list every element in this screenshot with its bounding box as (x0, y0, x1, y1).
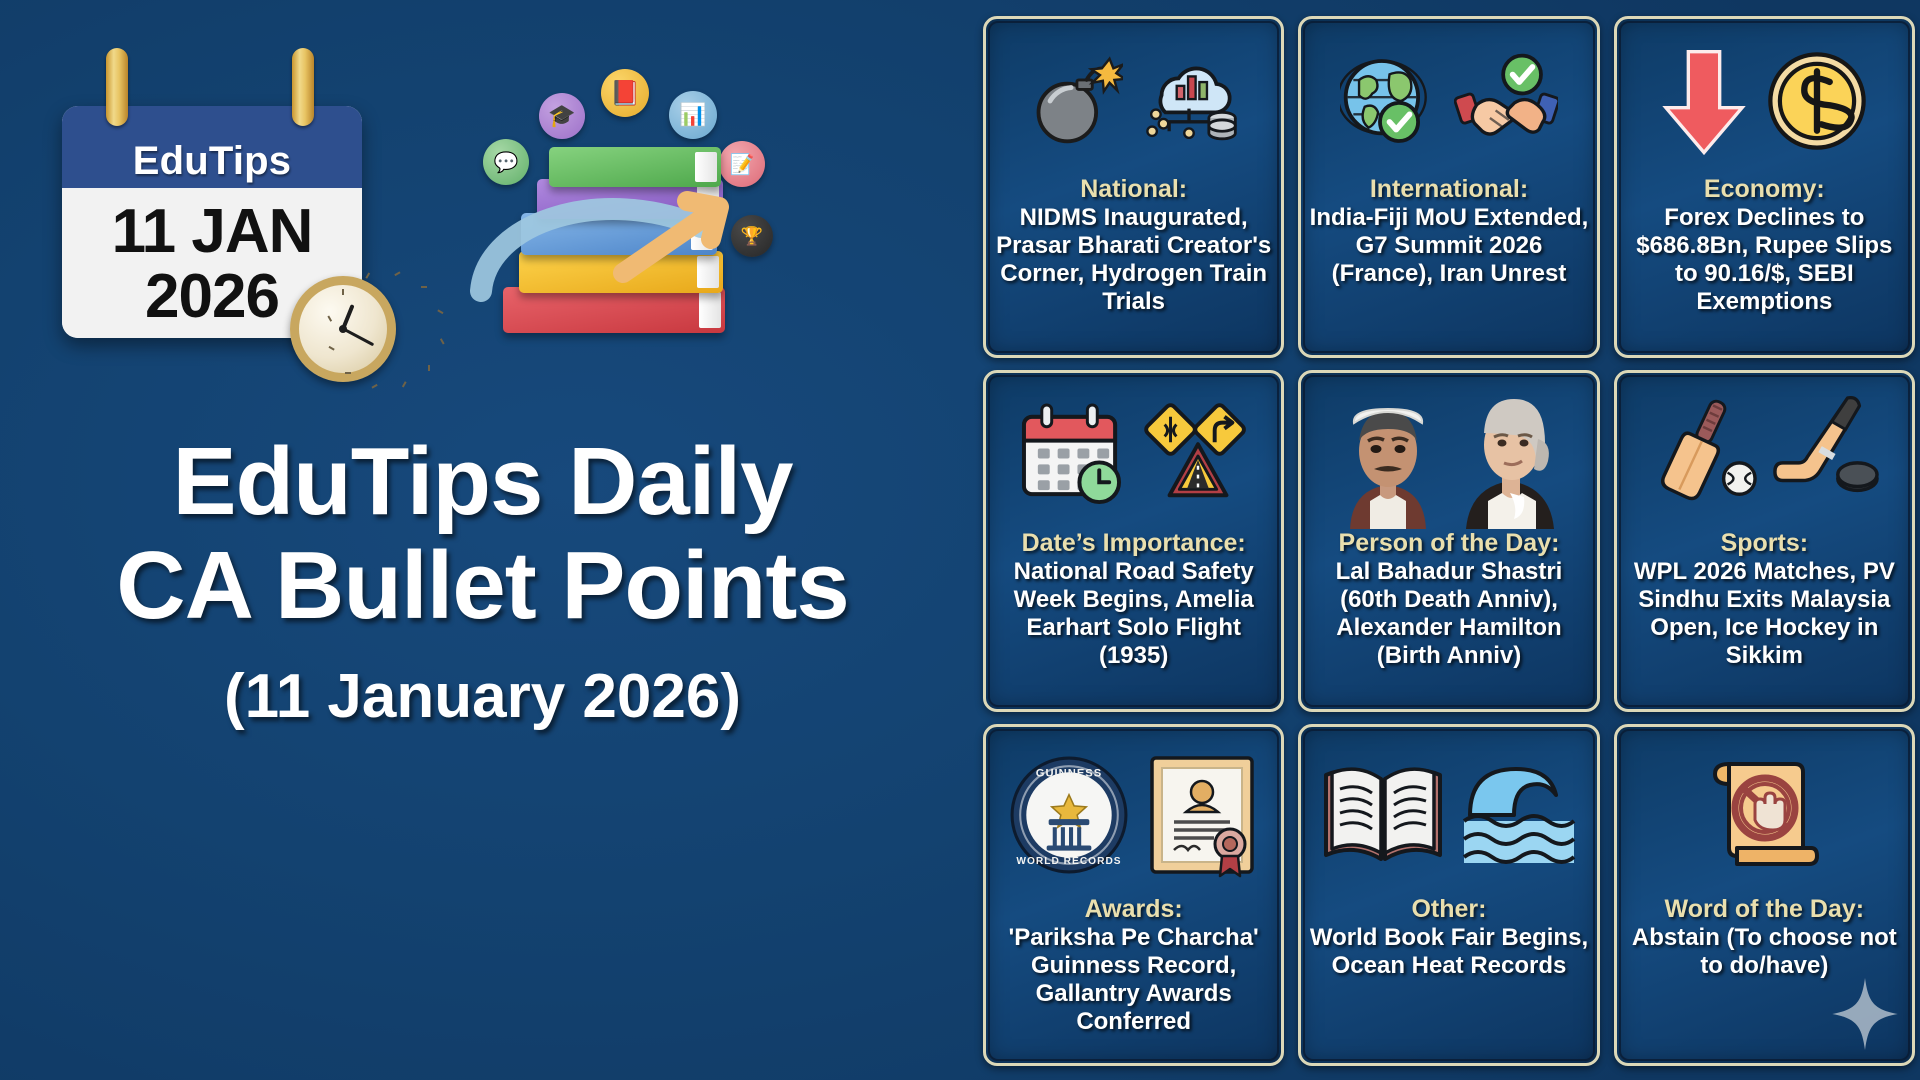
card-national-icons (992, 27, 1275, 175)
card-international[interactable]: International: India-Fiji MoU Extended, … (1298, 16, 1599, 358)
card-awards-description: 'Pariksha Pe Charcha' Guinness Record, G… (992, 924, 1275, 1036)
card-economy-icons (1623, 27, 1906, 175)
ocean-wave-icon (1460, 759, 1578, 871)
open-book-icon (1320, 759, 1446, 871)
calendar-ring-right (292, 48, 314, 126)
card-other[interactable]: Other: World Book Fair Begins, Ocean Hea… (1298, 724, 1599, 1066)
cloud-data-analytics-icon (1137, 53, 1241, 149)
title-line-2: CA Bullet Points (0, 534, 965, 638)
bomb-icon (1027, 53, 1123, 149)
svg-text:WORLD RECORDS: WORLD RECORDS (1016, 856, 1121, 867)
portrait-lal-bahadur-shastri (1327, 381, 1449, 529)
page-title: EduTips Daily CA Bullet Points (11 Janua… (0, 430, 965, 732)
stacked-books-icon: 🎓 📕 📊 💬 📝 🏆 (455, 55, 785, 385)
svg-text:GUINNESS: GUINNESS (1035, 767, 1102, 779)
calendar-brand-label: EduTips (133, 139, 291, 184)
calendar-ring-left (106, 48, 128, 126)
calendar-clock-icon (1016, 403, 1130, 507)
card-other-text: Other: World Book Fair Begins, Ocean Hea… (1307, 895, 1590, 1057)
card-international-text: International: India-Fiji MoU Extended, … (1307, 175, 1590, 349)
cricket-bat-ball-icon (1649, 394, 1757, 516)
card-national-description: NIDMS Inaugurated, Prasar Bharati Creato… (992, 204, 1275, 316)
card-economy-text: Economy: Forex Declines to $686.8Bn, Rup… (1623, 175, 1906, 349)
ice-hockey-stick-puck-icon (1771, 394, 1879, 516)
clock-icon (290, 276, 396, 382)
growth-arrow-icon (473, 173, 763, 313)
card-sports-icons (1623, 381, 1906, 529)
poster-canvas: EduTips 11 JAN 2026 (0, 0, 1920, 1080)
calendar-badge: EduTips 11 JAN 2026 (62, 48, 367, 348)
certificate-icon (1144, 752, 1260, 878)
card-person-of-the-day-text: Person of the Day: Lal Bahadur Shastri (… (1307, 529, 1590, 703)
red-down-arrow-icon (1658, 45, 1750, 157)
road-sign-icon (1144, 403, 1252, 507)
news-cards-grid: National: NIDMS Inaugurated, Prasar Bhar… (983, 16, 1915, 1066)
card-awards-text: Awards: 'Pariksha Pe Charcha' Guinness R… (992, 895, 1275, 1057)
calendar-year: 2026 (145, 267, 279, 328)
card-word-of-the-day-category: Word of the Day: (1665, 895, 1865, 923)
card-dates-importance-category: Date’s Importance: (1022, 529, 1246, 557)
card-economy[interactable]: Economy: Forex Declines to $686.8Bn, Rup… (1614, 16, 1915, 358)
card-word-of-the-day-icons (1623, 735, 1906, 895)
card-dates-importance[interactable]: Date’s Importance: National Road Safety … (983, 370, 1284, 712)
card-awards-icons: GUINNESS WORLD RECORDS (992, 735, 1275, 895)
card-sports-category: Sports: (1721, 529, 1809, 557)
card-economy-description: Forex Declines to $686.8Bn, Rupee Slips … (1623, 204, 1906, 316)
scroll-prohibition-icon (1699, 750, 1829, 880)
card-person-of-the-day-icons (1307, 381, 1590, 529)
card-sports-description: WPL 2026 Matches, PV Sindhu Exits Malays… (1623, 558, 1906, 670)
card-national-category: National: (1080, 175, 1187, 203)
book-badge-icon: 📕 (601, 69, 649, 117)
card-international-category: International: (1370, 175, 1528, 203)
card-other-category: Other: (1411, 895, 1486, 923)
card-international-icons (1307, 27, 1590, 175)
card-person-of-the-day-description: Lal Bahadur Shastri (60th Death Anniv), … (1307, 558, 1590, 670)
card-person-of-the-day[interactable]: Person of the Day: Lal Bahadur Shastri (… (1298, 370, 1599, 712)
card-dates-importance-description: National Road Safety Week Begins, Amelia… (992, 558, 1275, 670)
bar-chart-icon: 📊 (669, 91, 717, 139)
card-other-icons (1307, 735, 1590, 895)
left-branding-panel: EduTips 11 JAN 2026 (0, 0, 965, 1080)
card-national-text: National: NIDMS Inaugurated, Prasar Bhar… (992, 175, 1275, 349)
card-dates-importance-icons (992, 381, 1275, 529)
title-date: (11 January 2026) (0, 661, 965, 732)
card-awards[interactable]: GUINNESS WORLD RECORDS Awards: 'Pa (983, 724, 1284, 1066)
graduation-cap-icon: 🎓 (539, 93, 585, 139)
globe-check-icon (1340, 53, 1440, 149)
card-national[interactable]: National: NIDMS Inaugurated, Prasar Bhar… (983, 16, 1284, 358)
dollar-coin-icon (1764, 48, 1870, 154)
card-person-of-the-day-category: Person of the Day: (1339, 529, 1560, 557)
handshake-check-icon (1454, 53, 1558, 149)
calendar-day-month: 11 JAN (112, 202, 313, 263)
card-sports[interactable]: Sports: WPL 2026 Matches, PV Sindhu Exit… (1614, 370, 1915, 712)
title-line-1: EduTips Daily (0, 430, 965, 534)
card-dates-importance-text: Date’s Importance: National Road Safety … (992, 529, 1275, 703)
card-international-description: India-Fiji MoU Extended, G7 Summit 2026 … (1307, 204, 1590, 288)
guinness-world-records-icon: GUINNESS WORLD RECORDS (1008, 754, 1130, 876)
card-sports-text: Sports: WPL 2026 Matches, PV Sindhu Exit… (1623, 529, 1906, 703)
card-economy-category: Economy: (1704, 175, 1825, 203)
portrait-alexander-hamilton (1449, 381, 1571, 529)
card-other-description: World Book Fair Begins, Ocean Heat Recor… (1307, 924, 1590, 980)
card-awards-category: Awards: (1085, 895, 1183, 923)
sparkle-icon (1832, 978, 1898, 1050)
card-word-of-the-day-description: Abstain (To choose not to do/have) (1623, 924, 1906, 980)
